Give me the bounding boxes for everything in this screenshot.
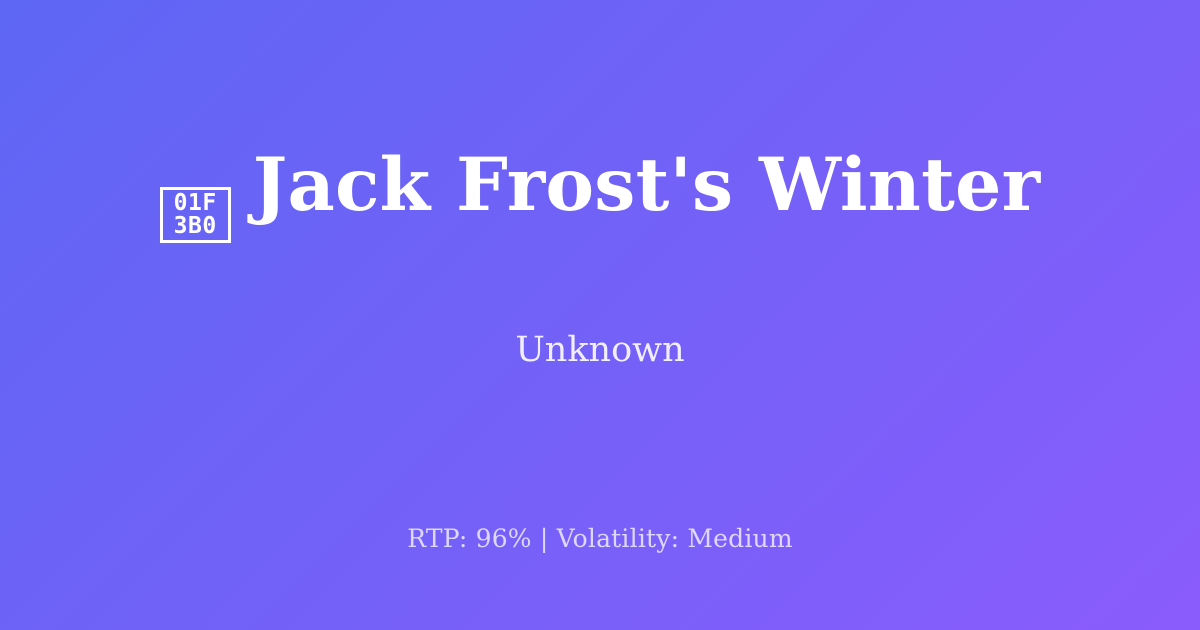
page-title: Jack Frost's Winter [253,149,1041,222]
slot-machine-emoji-icon: 01F 3B0 [160,187,231,243]
provider-subtitle: Unknown [515,331,684,370]
og-card: 01F 3B0 Jack Frost's Winter Unknown RTP:… [0,0,1200,630]
tofu-codepoint-line-1: 01F [174,192,217,215]
game-meta-line: RTP: 96% | Volatility: Medium [0,524,1200,554]
hero-section: 01F 3B0 Jack Frost's Winter Unknown [0,0,1200,470]
tofu-codepoint-line-2: 3B0 [174,215,217,238]
title-row: 01F 3B0 Jack Frost's Winter [160,100,1041,271]
